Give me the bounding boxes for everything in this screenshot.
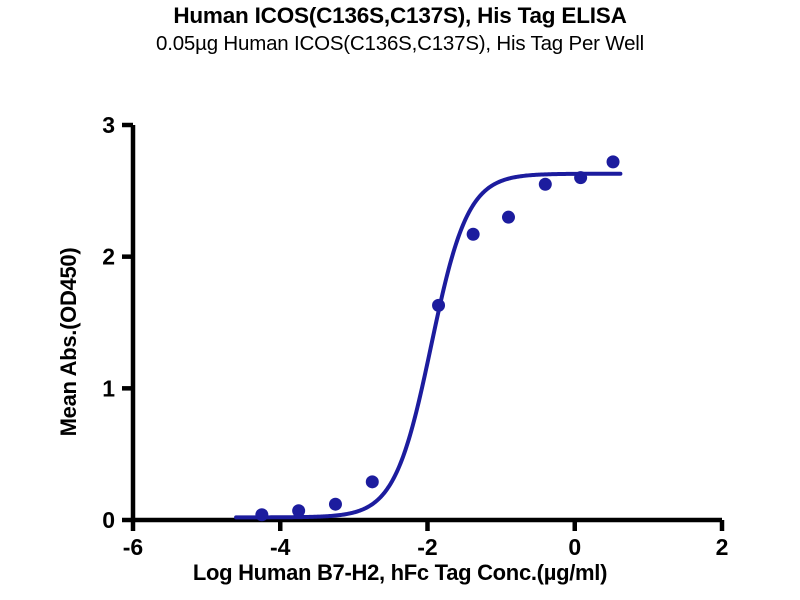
data-point xyxy=(292,504,305,517)
y-tick-label: 0 xyxy=(102,507,115,533)
chart-figure: Human ICOS(C136S,C137S), His Tag ELISA 0… xyxy=(0,0,800,600)
x-tick-label: 2 xyxy=(716,534,729,560)
y-tick-label: 3 xyxy=(102,112,115,138)
x-tick-label: -4 xyxy=(270,534,291,560)
data-point xyxy=(329,498,342,511)
x-tick-label: 0 xyxy=(568,534,581,560)
y-axis-title: Mean Abs.(OD450) xyxy=(56,132,96,552)
x-tick-label: -2 xyxy=(417,534,437,560)
data-point xyxy=(574,171,587,184)
data-point xyxy=(539,178,552,191)
plot-area: -6-4-2020123 xyxy=(0,0,800,600)
y-tick-label: 2 xyxy=(102,244,115,270)
data-point xyxy=(255,508,268,521)
data-point xyxy=(366,475,379,488)
x-tick-label: -6 xyxy=(123,534,143,560)
data-point xyxy=(432,299,445,312)
x-axis-title: Log Human B7-H2, hFc Tag Conc.(µg/ml) xyxy=(0,560,800,586)
data-point xyxy=(467,228,480,241)
y-tick-label: 1 xyxy=(102,375,115,401)
fit-curve xyxy=(236,174,620,518)
data-point xyxy=(607,155,620,168)
data-point xyxy=(502,211,515,224)
